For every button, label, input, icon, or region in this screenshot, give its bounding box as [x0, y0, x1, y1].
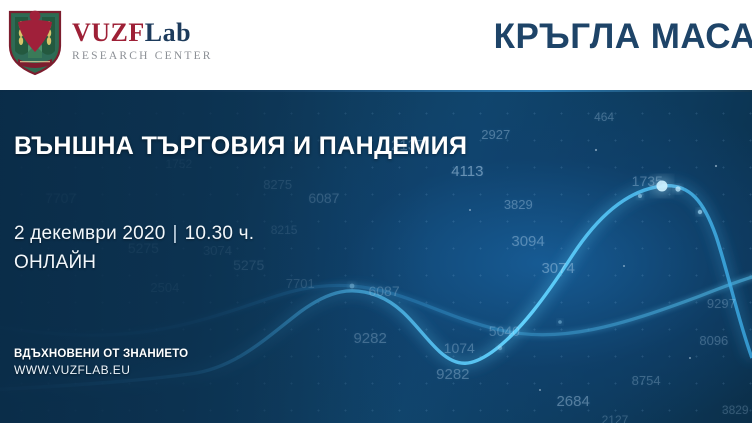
background-number: 8096 [699, 333, 728, 348]
website-url[interactable]: WWW.VUZFLAB.EU [14, 363, 188, 377]
vuzf-shield-emblem [6, 6, 64, 76]
background-number: 8754 [632, 373, 661, 388]
logo-subtitle: RESEARCH CENTER [72, 50, 213, 62]
event-datetime: 2 декември 2020|10.30 ч. [14, 223, 254, 245]
background-number: 9297 [707, 296, 736, 311]
page-title: КРЪГЛА МАСА [494, 17, 752, 57]
event-headline: ВЪНШНА ТЪРГОВИЯ И ПАНДЕМИЯ [14, 132, 467, 161]
poster-canvas: VUZFLab RESEARCH CENTER КРЪГЛА МАСА [0, 0, 752, 423]
background-number: 3094 [511, 233, 544, 250]
logo-wordmark-main: VUZFLab [72, 20, 213, 46]
vuzflab-logo[interactable]: VUZFLab RESEARCH CENTER [6, 6, 213, 76]
background-number: 464 [594, 110, 614, 124]
brand-slogan: ВДЪХНОВЕНИ ОТ ЗНАНИЕТО [14, 348, 188, 360]
header-bar: VUZFLab RESEARCH CENTER КРЪГЛА МАСА [0, 0, 752, 90]
background-number: 2684 [556, 393, 589, 410]
background-number: 1735 [632, 173, 663, 189]
background-number: 5040 [489, 323, 520, 339]
event-mode: ОНЛАЙН [14, 252, 254, 274]
background-number: 2127 [602, 413, 629, 423]
logo-wordmark: VUZFLab RESEARCH CENTER [72, 20, 213, 62]
background-number: 3074 [541, 260, 574, 277]
logo-word-lab: Lab [145, 18, 191, 47]
meta-separator: | [165, 223, 184, 245]
logo-word-vuzf: VUZF [72, 18, 145, 47]
background-number: 3829 [722, 403, 749, 417]
banner-content: ВЪНШНА ТЪРГОВИЯ И ПАНДЕМИЯ 2 декември 20… [14, 90, 484, 423]
event-time: 10.30 ч. [185, 223, 255, 244]
background-number: 3829 [504, 197, 533, 212]
event-banner: 7707175252752504307482156087770152758275… [0, 90, 752, 423]
background-number: 2927 [481, 127, 510, 142]
event-date: 2 декември 2020 [14, 223, 165, 244]
event-meta: 2 декември 2020|10.30 ч. ОНЛАЙН [14, 223, 254, 274]
banner-footer: ВДЪХНОВЕНИ ОТ ЗНАНИЕТО WWW.VUZFLAB.EU [14, 348, 188, 377]
